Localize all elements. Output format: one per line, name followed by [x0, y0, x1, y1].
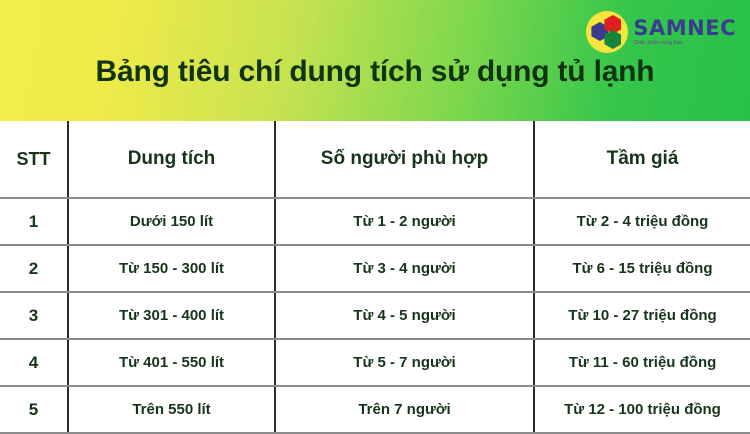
table-row: 1 Dưới 150 lít Từ 1 - 2 người Từ 2 - 4 t…: [0, 198, 750, 245]
hexagon-cluster-icon: [586, 11, 628, 53]
column-header-capacity: Dung tích: [68, 121, 275, 198]
cell-stt: 5: [0, 386, 68, 433]
table-body: 1 Dưới 150 lít Từ 1 - 2 người Từ 2 - 4 t…: [0, 198, 750, 433]
table-header: STT Dung tích Số người phù hợp Tầm giá: [0, 121, 750, 198]
table-header-row: STT Dung tích Số người phù hợp Tầm giá: [0, 121, 750, 198]
cell-price: Từ 6 - 15 triệu đồng: [534, 245, 750, 292]
capacity-criteria-table: STT Dung tích Số người phù hợp Tầm giá 1…: [0, 121, 750, 434]
cell-price: Từ 2 - 4 triệu đồng: [534, 198, 750, 245]
cell-stt: 1: [0, 198, 68, 245]
cell-people: Từ 5 - 7 người: [275, 339, 534, 386]
cell-price: Từ 10 - 27 triệu đồng: [534, 292, 750, 339]
cell-price: Từ 11 - 60 triệu đồng: [534, 339, 750, 386]
table-container: STT Dung tích Số người phù hợp Tầm giá 1…: [0, 121, 750, 434]
logo-text-block: SAMNEC Chắc chắn cùng bạn: [633, 18, 736, 46]
cell-stt: 3: [0, 292, 68, 339]
column-header-price: Tầm giá: [534, 121, 750, 198]
brand-name: SAMNEC: [633, 18, 736, 39]
cell-capacity: Từ 150 - 300 lít: [68, 245, 275, 292]
page-title: Bảng tiêu chí dung tích sử dụng tủ lạnh: [0, 55, 750, 88]
cell-people: Từ 4 - 5 người: [275, 292, 534, 339]
cell-price: Từ 12 - 100 triệu đồng: [534, 386, 750, 433]
cell-capacity: Trên 550 lít: [68, 386, 275, 433]
cell-stt: 4: [0, 339, 68, 386]
table-row: 5 Trên 550 lít Trên 7 người Từ 12 - 100 …: [0, 386, 750, 433]
header-banner: SAMNEC Chắc chắn cùng bạn Bảng tiêu chí …: [0, 0, 750, 121]
column-header-people: Số người phù hợp: [275, 121, 534, 198]
cell-capacity: Từ 301 - 400 lít: [68, 292, 275, 339]
infographic-poster: SAMNEC Chắc chắn cùng bạn Bảng tiêu chí …: [0, 0, 750, 423]
table-row: 3 Từ 301 - 400 lít Từ 4 - 5 người Từ 10 …: [0, 292, 750, 339]
table-row: 2 Từ 150 - 300 lít Từ 3 - 4 người Từ 6 -…: [0, 245, 750, 292]
cell-people: Từ 1 - 2 người: [275, 198, 534, 245]
cell-capacity: Từ 401 - 550 lít: [68, 339, 275, 386]
brand-tagline: Chắc chắn cùng bạn: [633, 41, 736, 46]
cell-stt: 2: [0, 245, 68, 292]
cell-people: Từ 3 - 4 người: [275, 245, 534, 292]
column-header-stt: STT: [0, 121, 68, 198]
table-row: 4 Từ 401 - 550 lít Từ 5 - 7 người Từ 11 …: [0, 339, 750, 386]
cell-people: Trên 7 người: [275, 386, 534, 433]
cell-capacity: Dưới 150 lít: [68, 198, 275, 245]
samnec-logo: SAMNEC Chắc chắn cùng bạn: [586, 10, 736, 54]
